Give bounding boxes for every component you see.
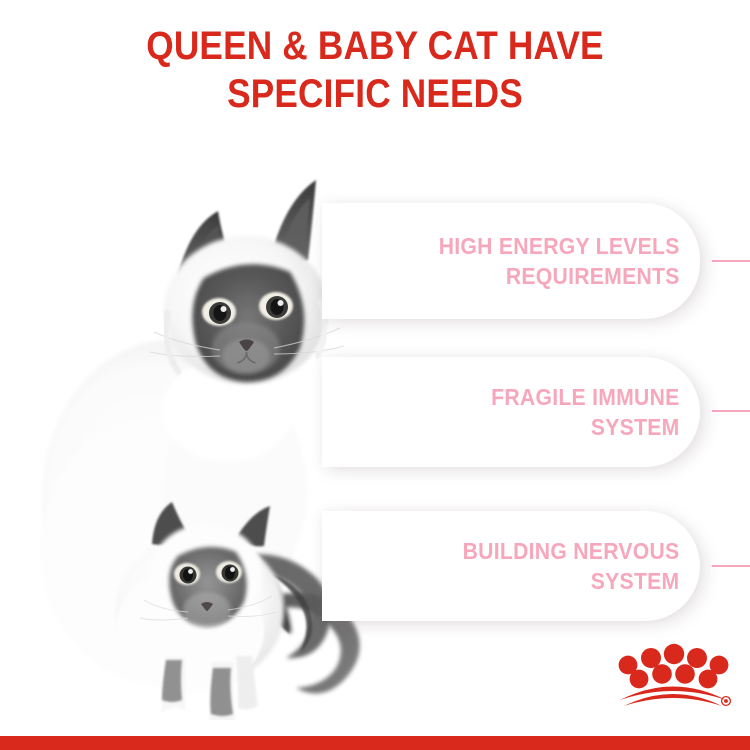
poster-root: QUEEN & BABY CAT HAVE SPECIFIC NEEDS: [0, 0, 750, 750]
feature-card-2[interactable]: FRAGILE IMMUNE SYSTEM: [322, 357, 700, 467]
feature-card-2-text: FRAGILE IMMUNE SYSTEM: [491, 382, 700, 442]
registered-trademark-icon: [722, 697, 731, 706]
feature-card-1[interactable]: HIGH ENERGY LEVELS REQUIREMENTS: [322, 203, 700, 319]
feature-card-3-line-1: BUILDING NERVOUS: [463, 538, 680, 564]
feature-card-2-line-1: FRAGILE IMMUNE: [491, 384, 679, 410]
feature-card-1-text: HIGH ENERGY LEVELS REQUIREMENTS: [439, 231, 700, 291]
crown-icon: [619, 644, 729, 706]
footer-accent-bar: [0, 736, 750, 750]
feature-connector-line-3: [712, 565, 750, 567]
feature-card-3[interactable]: BUILDING NERVOUS SYSTEM: [322, 511, 700, 621]
feature-card-1-line-1: HIGH ENERGY LEVELS: [439, 233, 680, 259]
feature-connector-line-2: [712, 410, 750, 412]
page-title: QUEEN & BABY CAT HAVE SPECIFIC NEEDS: [0, 22, 750, 118]
page-title-line-2: SPECIFIC NEEDS: [45, 70, 705, 118]
royal-canin-crown-logo: [614, 640, 732, 708]
feature-card-1-line-2: REQUIREMENTS: [439, 261, 680, 291]
feature-card-3-line-2: SYSTEM: [463, 566, 680, 596]
feature-card-3-text: BUILDING NERVOUS SYSTEM: [463, 536, 700, 596]
page-title-line-1: QUEEN & BABY CAT HAVE: [45, 22, 705, 70]
feature-card-2-line-2: SYSTEM: [491, 412, 679, 442]
feature-connector-line-1: [712, 260, 750, 262]
